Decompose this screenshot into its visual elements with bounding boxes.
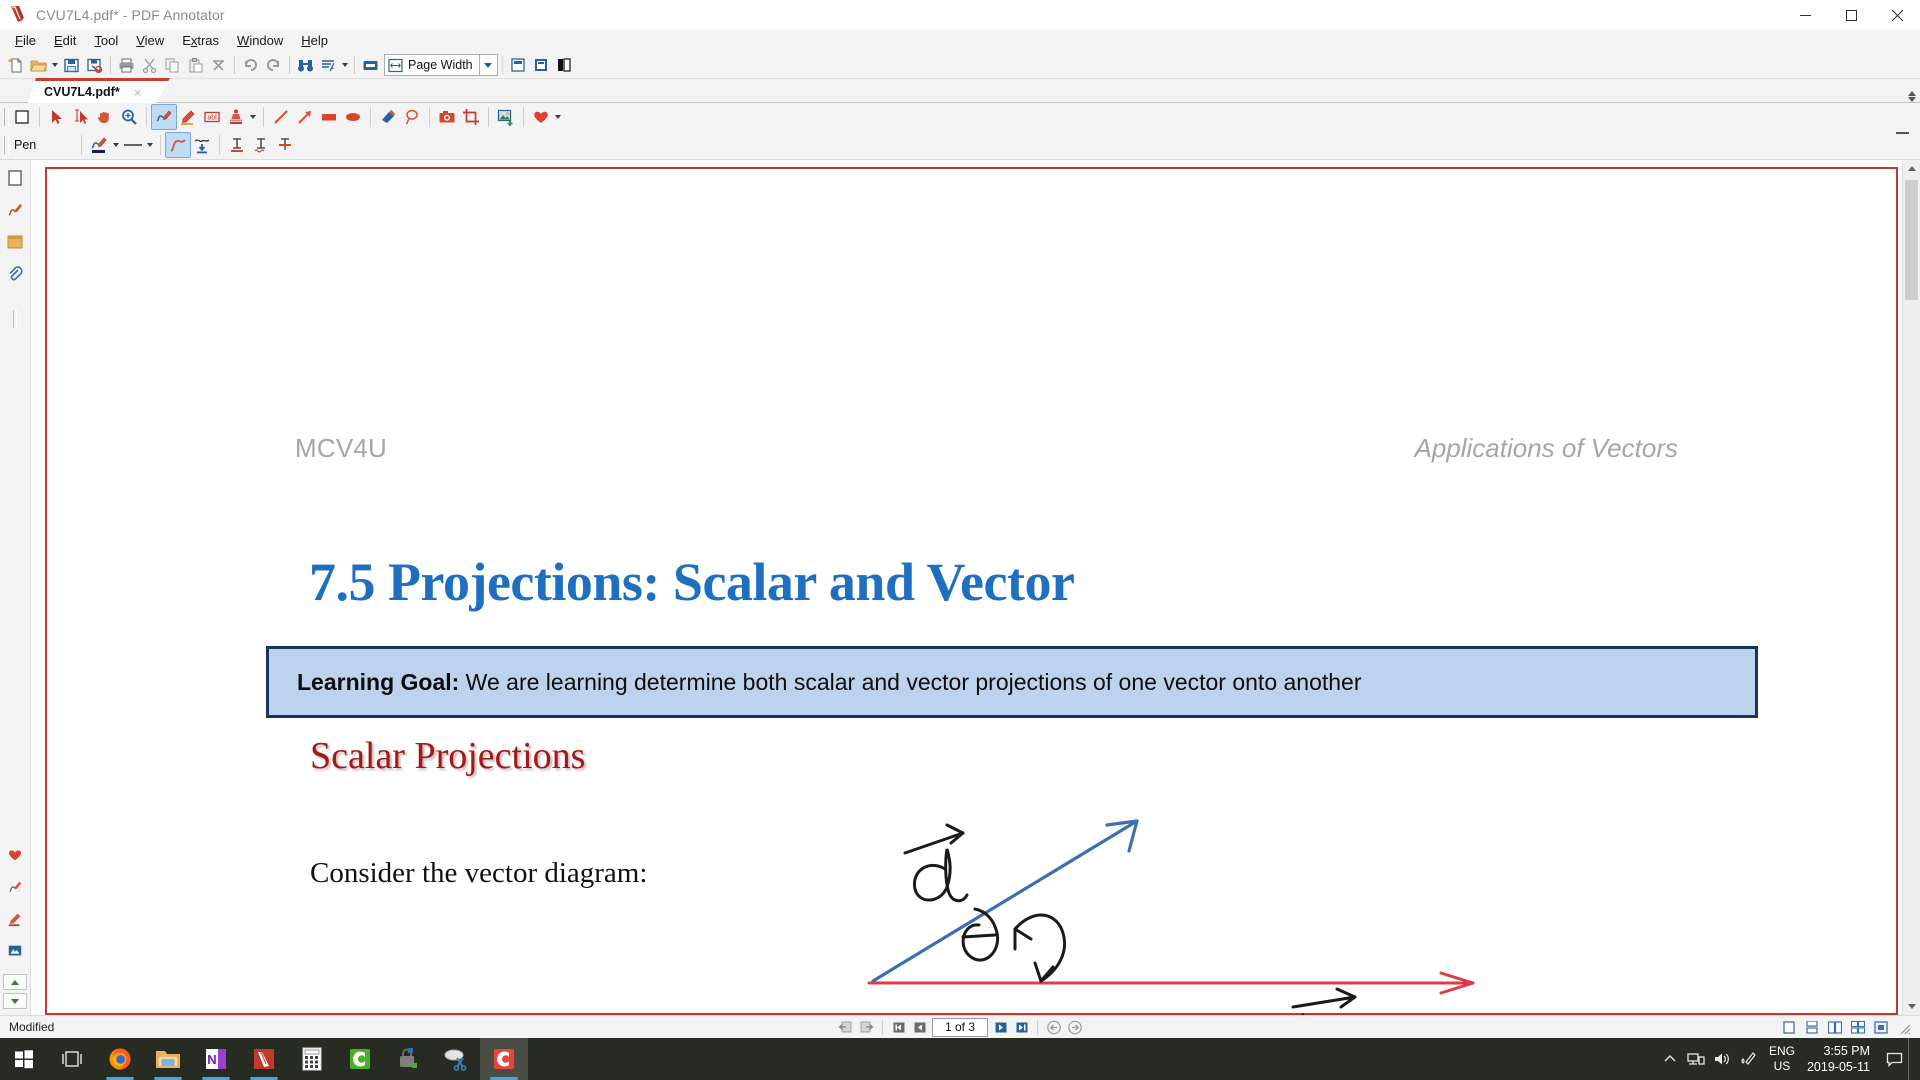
cut-icon[interactable] xyxy=(138,54,161,76)
insert-image-icon[interactable] xyxy=(494,105,518,129)
select-arrow-icon[interactable] xyxy=(45,105,69,129)
bitlocker-icon[interactable] xyxy=(384,1038,432,1080)
page-navigation: 1 of 3 xyxy=(0,1018,1920,1037)
calculator-icon[interactable] xyxy=(288,1038,336,1080)
pan-hand-icon[interactable] xyxy=(93,105,117,129)
firefox-icon[interactable] xyxy=(96,1038,144,1080)
pdf-annotator-icon[interactable] xyxy=(240,1038,288,1080)
two-page-continuous-layout-icon[interactable] xyxy=(1847,1018,1868,1036)
next-view-icon[interactable] xyxy=(856,1018,877,1036)
language-line-1: ENG xyxy=(1769,1044,1795,1059)
angle-arc-arrow xyxy=(1015,915,1065,981)
line-tool-icon[interactable] xyxy=(269,105,293,129)
find-binoculars-icon[interactable] xyxy=(294,54,317,76)
scrollbar-thumb[interactable] xyxy=(1905,180,1918,300)
camtasia-studio-icon[interactable] xyxy=(480,1038,528,1080)
annotation-tools-row: abl xyxy=(0,103,1920,131)
menu-extras[interactable]: Extras xyxy=(173,31,228,51)
scroll-tabs-down-icon[interactable] xyxy=(1908,97,1916,102)
page-indicator[interactable]: 1 of 3 xyxy=(932,1018,988,1037)
pen-properties-label: Pen xyxy=(10,138,76,152)
vector-a-arrow xyxy=(873,821,1137,981)
document-tab-bar: CVU7L4.pdf* × xyxy=(0,79,1920,103)
fit-page-icon[interactable] xyxy=(359,54,382,76)
learning-goal-text: Learning Goal: We are learning determine… xyxy=(269,669,1362,696)
label-vector-a xyxy=(905,825,967,901)
learning-goal-body: We are learning determine both scalar an… xyxy=(459,669,1361,695)
forward-arrow-icon[interactable] xyxy=(1064,1018,1085,1036)
document-tab[interactable]: CVU7L4.pdf* × xyxy=(28,78,170,103)
rectangle-tool-icon[interactable] xyxy=(317,105,341,129)
scroll-down-icon[interactable] xyxy=(3,993,27,1009)
main-toolbar: Page Width xyxy=(0,52,1920,79)
facing-page-view-icon[interactable] xyxy=(553,54,576,76)
section-subheading: Scalar Projections xyxy=(310,734,585,778)
pdf-page[interactable]: MCV4U Applications of Vectors 7.5 Projec… xyxy=(45,167,1898,1015)
open-folder-icon[interactable] xyxy=(27,54,50,76)
open-dropdown-caret-icon[interactable] xyxy=(50,54,60,76)
stamp-dropdown-caret-icon[interactable] xyxy=(248,106,258,128)
clock-date: 2019-05-11 xyxy=(1807,1059,1870,1075)
tab-scroll-buttons[interactable] xyxy=(1908,91,1916,102)
pen-width-icon[interactable] xyxy=(121,133,145,157)
language-indicator[interactable]: ENG US xyxy=(1761,1044,1803,1074)
window-title: CVU7L4.pdf* - PDF Annotator xyxy=(36,7,225,23)
windows-ink-icon[interactable] xyxy=(1735,1038,1761,1080)
highlighter-tool-icon[interactable] xyxy=(176,105,200,129)
title-bar: CVU7L4.pdf* - PDF Annotator xyxy=(0,0,1920,30)
text-recognition-icon[interactable] xyxy=(317,54,340,76)
strikethrough-icon[interactable] xyxy=(273,133,297,157)
pen-row-grip-handle[interactable] xyxy=(2,134,10,156)
file-explorer-icon[interactable] xyxy=(144,1038,192,1080)
previous-view-icon[interactable] xyxy=(835,1018,856,1036)
annotation-toolbar: abl xyxy=(0,103,1920,160)
redo-icon[interactable] xyxy=(262,54,285,76)
system-tray: ENG US 3:55 PM 2019-05-11 xyxy=(1657,1038,1920,1080)
fullscreen-icon[interactable] xyxy=(1870,1018,1891,1036)
menu-help[interactable]: Help xyxy=(292,31,337,51)
arrow-tool-icon[interactable] xyxy=(293,105,317,129)
pdf-annotator-icon xyxy=(8,4,30,26)
document-tab-label: CVU7L4.pdf* xyxy=(44,85,120,99)
slide-content: MCV4U Applications of Vectors 7.5 Projec… xyxy=(47,169,1896,1013)
new-document-icon[interactable] xyxy=(4,54,27,76)
continuous-view-icon[interactable] xyxy=(530,54,553,76)
eraser-tool-icon[interactable] xyxy=(376,105,400,129)
pen-color-caret-icon[interactable] xyxy=(111,134,121,156)
windows-taskbar: N xyxy=(0,1038,1920,1080)
close-button[interactable] xyxy=(1874,0,1920,30)
body-paragraph: Consider the vector diagram: xyxy=(310,857,647,890)
pen-presets-icon[interactable] xyxy=(3,875,27,899)
first-page-icon[interactable] xyxy=(888,1018,909,1036)
scroll-tabs-up-icon[interactable] xyxy=(1908,91,1916,96)
page-width-icon xyxy=(386,56,404,74)
camtasia-icon[interactable] xyxy=(336,1038,384,1080)
resize-grip-icon[interactable] xyxy=(1893,1018,1914,1036)
zoom-level-value: Page Width xyxy=(404,58,479,72)
volume-icon[interactable] xyxy=(1709,1038,1735,1080)
pen-color-icon[interactable] xyxy=(87,133,111,157)
single-page-layout-icon[interactable] xyxy=(1778,1018,1799,1036)
back-arrow-icon[interactable] xyxy=(1043,1018,1064,1036)
underline-text-icon[interactable] xyxy=(225,133,249,157)
slide-header-right: Applications of Vectors xyxy=(1414,433,1678,464)
view-layout-buttons xyxy=(1778,1018,1914,1036)
task-view-icon[interactable] xyxy=(48,1038,96,1080)
scroll-up-arrow-icon[interactable] xyxy=(1903,160,1920,177)
favorites-heart-icon[interactable] xyxy=(529,105,553,129)
last-page-icon[interactable] xyxy=(1011,1018,1032,1036)
two-page-layout-icon[interactable] xyxy=(1824,1018,1845,1036)
pen-width-caret-icon[interactable] xyxy=(145,134,155,156)
crop-tool-icon[interactable] xyxy=(459,105,483,129)
copy-icon[interactable] xyxy=(161,54,184,76)
menu-tool[interactable]: Tool xyxy=(85,31,127,51)
zoom-magnifier-icon[interactable] xyxy=(117,105,141,129)
menu-file[interactable]: File xyxy=(6,31,45,51)
ellipse-tool-icon[interactable] xyxy=(341,105,365,129)
scroll-up-icon[interactable] xyxy=(3,974,27,990)
minimize-button[interactable] xyxy=(1782,0,1828,30)
action-center-icon[interactable] xyxy=(1880,1038,1908,1080)
clock[interactable]: 3:55 PM 2019-05-11 xyxy=(1803,1043,1880,1075)
menu-bar: File Edit Tool View Extras Window Help xyxy=(0,30,1920,52)
squiggly-underline-icon[interactable] xyxy=(249,133,273,157)
rail-grip-handle[interactable] xyxy=(8,308,22,330)
previous-page-icon[interactable] xyxy=(909,1018,930,1036)
favorites-heart-icon[interactable] xyxy=(3,843,27,867)
save-as-icon[interactable] xyxy=(83,54,106,76)
text-select-icon[interactable] xyxy=(69,105,93,129)
smooth-stroke-icon[interactable] xyxy=(166,133,190,157)
vertical-scrollbar[interactable] xyxy=(1902,160,1920,1015)
text-box-tool-icon[interactable]: abl xyxy=(200,105,224,129)
document-pane-toggle-icon[interactable] xyxy=(10,105,34,129)
text-recognition-caret-icon[interactable] xyxy=(340,54,350,76)
save-icon[interactable] xyxy=(60,54,83,76)
stamp-presets-icon[interactable] xyxy=(3,939,27,963)
chevron-down-icon[interactable] xyxy=(479,55,497,75)
network-icon[interactable] xyxy=(1683,1038,1709,1080)
slide-title: 7.5 Projections: Scalar and Vector xyxy=(309,551,1074,613)
scroll-down-arrow-icon[interactable] xyxy=(1903,998,1920,1015)
onenote-icon[interactable]: N xyxy=(192,1038,240,1080)
vector-b-arrow xyxy=(869,973,1473,993)
zoom-level-combobox[interactable]: Page Width xyxy=(384,54,498,76)
snapshot-camera-icon[interactable] xyxy=(435,105,459,129)
pen-tool-icon[interactable] xyxy=(152,105,176,129)
attachments-paperclip-icon[interactable] xyxy=(3,262,27,286)
document-view[interactable]: MCV4U Applications of Vectors 7.5 Projec… xyxy=(31,160,1920,1015)
windows-start-icon[interactable] xyxy=(0,1038,48,1080)
show-desktop-button[interactable] xyxy=(1908,1038,1916,1080)
menu-window[interactable]: Window xyxy=(228,31,292,51)
learning-goal-label: Learning Goal: xyxy=(297,669,459,695)
bookmarks-icon[interactable] xyxy=(3,230,27,254)
language-line-2: US xyxy=(1774,1059,1791,1074)
lasso-select-icon[interactable] xyxy=(400,105,424,129)
pdf-annotator-window: CVU7L4.pdf* - PDF Annotator File Edit To… xyxy=(0,0,1920,1080)
show-hidden-icons-icon[interactable] xyxy=(1657,1038,1683,1080)
learning-goal-box: Learning Goal: We are learning determine… xyxy=(266,646,1758,718)
clock-time: 3:55 PM xyxy=(1823,1043,1870,1059)
menu-edit[interactable]: Edit xyxy=(45,31,85,51)
vector-diagram-annotation xyxy=(867,799,1527,1015)
svg-text:abl: abl xyxy=(207,115,217,122)
delete-icon[interactable] xyxy=(207,54,230,76)
close-icon[interactable]: × xyxy=(134,85,142,100)
favorites-caret-icon[interactable] xyxy=(553,106,563,128)
maximize-button[interactable] xyxy=(1828,0,1874,30)
toolbar-grip-handle[interactable] xyxy=(2,106,10,128)
label-vector-b xyxy=(1293,989,1355,1015)
pen-properties-row: Pen xyxy=(0,131,1920,159)
paste-icon[interactable] xyxy=(184,54,207,76)
print-icon[interactable] xyxy=(115,54,138,76)
slide-header-left: MCV4U xyxy=(295,433,387,464)
next-page-icon[interactable] xyxy=(990,1018,1011,1036)
page-thumbnails-icon[interactable] xyxy=(3,166,27,190)
annotations-pen-icon[interactable] xyxy=(3,198,27,222)
pressure-stroke-icon[interactable] xyxy=(190,133,214,157)
undo-icon[interactable] xyxy=(239,54,262,76)
highlighter-presets-icon[interactable] xyxy=(3,907,27,931)
side-rail xyxy=(0,160,31,1015)
minimize-toolbar-icon[interactable] xyxy=(1890,125,1914,141)
snipping-tool-icon[interactable] xyxy=(432,1038,480,1080)
stamp-tool-icon[interactable] xyxy=(224,105,248,129)
status-bar: Modified 1 of 3 xyxy=(0,1015,1920,1038)
workspace: MCV4U Applications of Vectors 7.5 Projec… xyxy=(0,160,1920,1015)
continuous-layout-icon[interactable] xyxy=(1801,1018,1822,1036)
svg-text:N: N xyxy=(207,1052,216,1067)
single-page-view-icon[interactable] xyxy=(507,54,530,76)
menu-view[interactable]: View xyxy=(127,31,173,51)
